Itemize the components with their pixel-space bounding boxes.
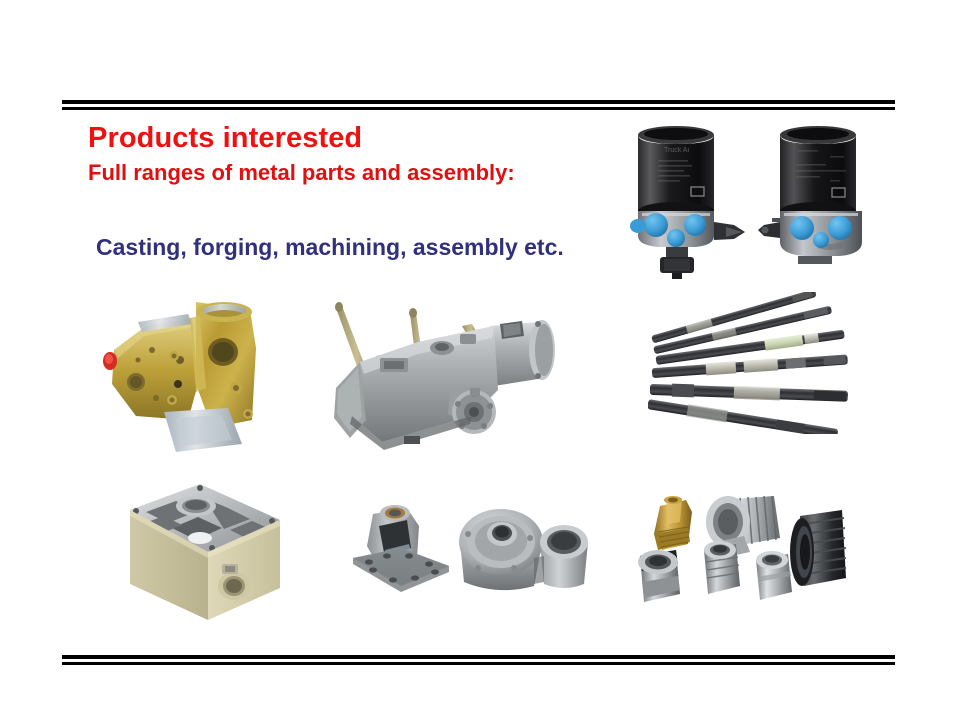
page-subtitle: Full ranges of metal parts and assembly:: [88, 160, 515, 186]
photo-zinc-plated-bracket: [100, 288, 280, 460]
page-title: Products interested: [88, 122, 362, 155]
photo-gearbox-transmission: [322, 296, 572, 460]
photo-bearing-housing-casting: [452, 498, 602, 603]
svg-text:Truck Ai: Truck Ai: [664, 147, 689, 154]
bottom-double-rule: [62, 655, 895, 665]
photo-air-dryer-right: [758, 112, 903, 287]
top-double-rule: [62, 100, 895, 110]
photo-bushings-and-worm-gear: [628, 482, 856, 610]
photo-cast-box-housing: [112, 480, 290, 630]
photo-machined-shafts: [648, 292, 880, 434]
photo-air-dryer-left: Truck Ai: [618, 112, 778, 287]
photo-yoke-flange-casting: [345, 500, 455, 600]
capability-tagline: Casting, forging, machining, assembly et…: [96, 234, 564, 261]
slide-canvas: Products interested Full ranges of metal…: [0, 0, 960, 720]
